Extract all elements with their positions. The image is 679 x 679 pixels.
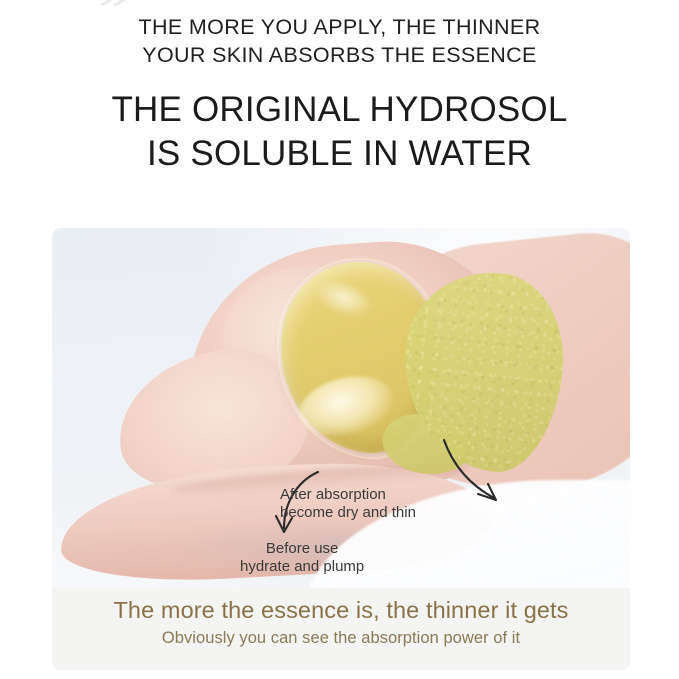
hand-demo-photo: Before use hydrate and plump After absor… <box>52 228 630 588</box>
annotation-before-use: Before use hydrate and plump <box>240 540 364 577</box>
headline-block: THE MORE YOU APPLY, THE THINNER YOUR SKI… <box>0 14 679 177</box>
annotation-after-absorption: After absorption become dry and thin <box>280 486 416 523</box>
page-title: THE ORIGINAL HYDROSOL IS SOLUBLE IN WATE… <box>0 88 679 177</box>
kicker-line-2: YOUR SKIN ABSORBS THE ESSENCE <box>70 42 609 70</box>
caption-subline: Obviously you can see the absorption pow… <box>52 625 630 649</box>
annotation-before-line-1: Before use <box>240 540 364 558</box>
kicker-text: THE MORE YOU APPLY, THE THINNER YOUR SKI… <box>0 14 679 70</box>
product-infographic-page: { "decor": { "quote_glyph": "\u201D" }, … <box>0 0 679 679</box>
annotation-after-line-1: After absorption <box>280 486 416 504</box>
page-title-line-1: THE ORIGINAL HYDROSOL <box>0 88 679 132</box>
page-title-line-2: IS SOLUBLE IN WATER <box>0 132 679 176</box>
caption-band: The more the essence is, the thinner it … <box>52 588 630 670</box>
kicker-line-1: THE MORE YOU APPLY, THE THINNER <box>70 14 609 42</box>
annotation-after-line-2: become dry and thin <box>280 504 416 522</box>
annotation-before-line-2: hydrate and plump <box>240 558 364 576</box>
curved-arrow-down-right-icon <box>438 436 518 516</box>
product-demo-panel: Before use hydrate and plump After absor… <box>52 228 630 670</box>
caption-headline: The more the essence is, the thinner it … <box>52 588 630 625</box>
